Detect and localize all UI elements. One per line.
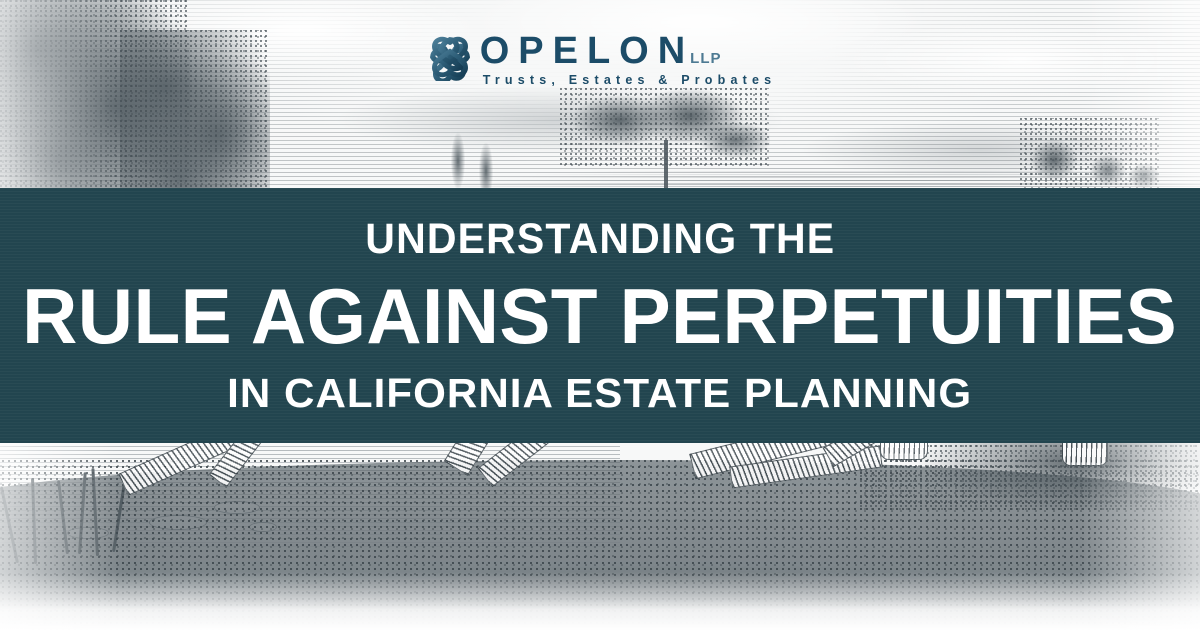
hero-eyebrow: UNDERSTANDING THE (365, 218, 835, 261)
brand-logo-text: OPELONLLP Trusts, Estates & Probates (480, 28, 777, 87)
brand-tagline: Trusts, Estates & Probates (483, 73, 777, 87)
brand-logo[interactable]: OPELONLLP Trusts, Estates & Probates (0, 28, 1200, 87)
bottom-paper-fade (0, 572, 1200, 630)
hero-headline: RULE AGAINST PERPETUITIES (22, 277, 1177, 355)
oak-trunk (664, 140, 668, 190)
hero-title-band: UNDERSTANDING THE RULE AGAINST PERPETUIT… (0, 188, 1200, 443)
brand-wordmark: OPELON (480, 32, 694, 70)
brand-wordmark-row: OPELONLLP (480, 32, 777, 70)
blog-hero-banner: OPELONLLP Trusts, Estates & Probates UND… (0, 0, 1200, 630)
engraved-shrub-right (1020, 118, 1160, 194)
interlocking-knot-icon (424, 33, 476, 81)
brand-logo-inner: OPELONLLP Trusts, Estates & Probates (424, 28, 777, 87)
hero-subhead: IN CALIFORNIA ESTATE PLANNING (227, 373, 972, 414)
engraved-oak-tree (560, 88, 770, 193)
stipple-texture (1020, 118, 1160, 194)
brand-entity-suffix: LLP (690, 50, 721, 67)
